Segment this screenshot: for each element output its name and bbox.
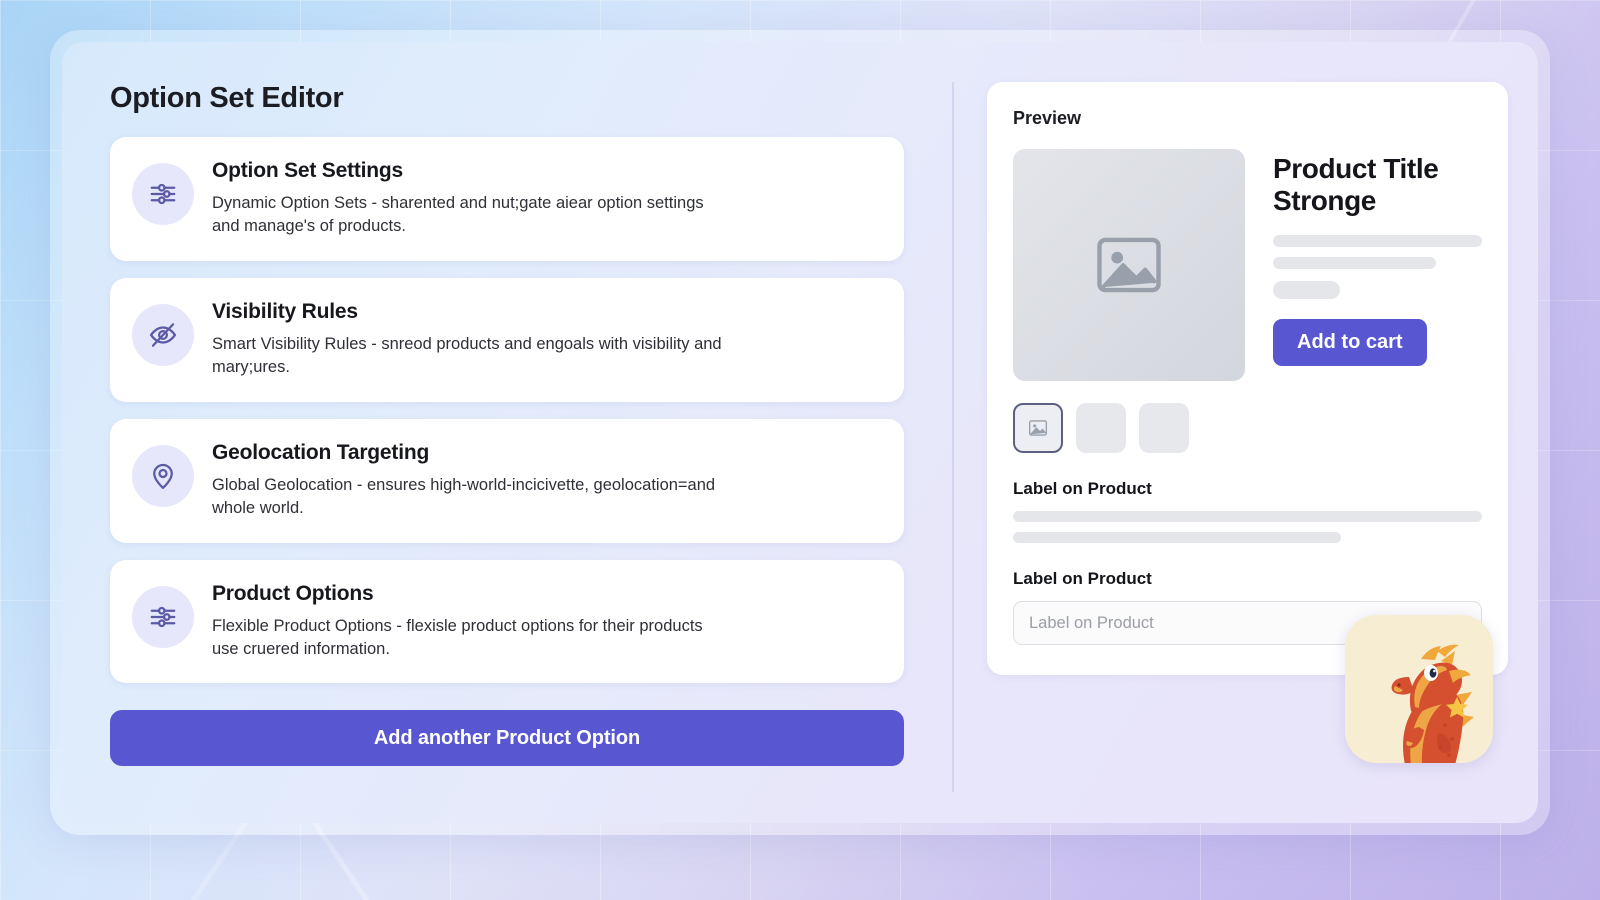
feature-title: Option Set Settings [212, 159, 732, 183]
skeleton-line [1013, 532, 1341, 543]
thumbnail-row [1013, 403, 1482, 453]
page-backdrop: Option Set Editor Option Set Settings Dy… [0, 0, 1600, 900]
feature-card-visibility-rules[interactable]: Visibility Rules Smart Visibility Rules … [110, 278, 904, 402]
feature-description: Flexible Product Options - flexisle prod… [212, 615, 732, 662]
feature-card-option-set-settings[interactable]: Option Set Settings Dynamic Option Sets … [110, 137, 904, 261]
feature-card-product-options[interactable]: Product Options Flexible Product Options… [110, 560, 904, 684]
feature-text: Geolocation Targeting Global Geolocation… [212, 439, 732, 521]
feature-text: Option Set Settings Dynamic Option Sets … [212, 157, 732, 239]
app-frame: Option Set Editor Option Set Settings Dy… [50, 30, 1550, 835]
sliders-icon [132, 586, 194, 648]
feature-title: Visibility Rules [212, 300, 732, 324]
feature-description: Dynamic Option Sets - sharented and nut;… [212, 192, 732, 239]
product-title: Product Title Stronge [1273, 153, 1482, 217]
feature-description: Global Geolocation - ensures high-world-… [212, 474, 732, 521]
sliders-icon [132, 163, 194, 225]
thumbnail-3[interactable] [1139, 403, 1189, 453]
field-label-1: Label on Product [1013, 479, 1482, 499]
add-to-cart-button[interactable]: Add to cart [1273, 319, 1427, 366]
app-panel: Option Set Editor Option Set Settings Dy… [62, 42, 1538, 823]
product-image-placeholder [1013, 149, 1245, 381]
feature-description: Smart Visibility Rules - snreod products… [212, 333, 732, 380]
thumbnail-1[interactable] [1013, 403, 1063, 453]
feature-title: Geolocation Targeting [212, 441, 732, 465]
map-pin-icon [132, 445, 194, 507]
page-title: Option Set Editor [110, 82, 904, 115]
feature-title: Product Options [212, 582, 732, 606]
feature-text: Visibility Rules Smart Visibility Rules … [212, 298, 732, 380]
preview-panel: Preview Product Title Stronge [952, 42, 1538, 823]
feature-card-geolocation-targeting[interactable]: Geolocation Targeting Global Geolocation… [110, 419, 904, 543]
eye-off-icon [132, 304, 194, 366]
thumbnail-2[interactable] [1076, 403, 1126, 453]
skeleton-line [1013, 511, 1482, 522]
feature-text: Product Options Flexible Product Options… [212, 580, 732, 662]
product-row: Product Title Stronge Add to cart [1013, 149, 1482, 381]
skeleton-pill [1273, 281, 1340, 299]
option-set-editor-panel: Option Set Editor Option Set Settings Dy… [62, 42, 952, 823]
skeleton-field [1013, 511, 1482, 543]
skeleton-line [1273, 257, 1436, 269]
dragon-mascot-icon [1345, 615, 1493, 763]
field-label-2: Label on Product [1013, 569, 1482, 589]
preview-heading: Preview [1013, 108, 1482, 129]
product-info: Product Title Stronge Add to cart [1273, 149, 1482, 381]
skeleton-line [1273, 235, 1482, 247]
add-another-product-option-button[interactable]: Add another Product Option [110, 710, 904, 766]
preview-card: Preview Product Title Stronge [987, 82, 1508, 675]
